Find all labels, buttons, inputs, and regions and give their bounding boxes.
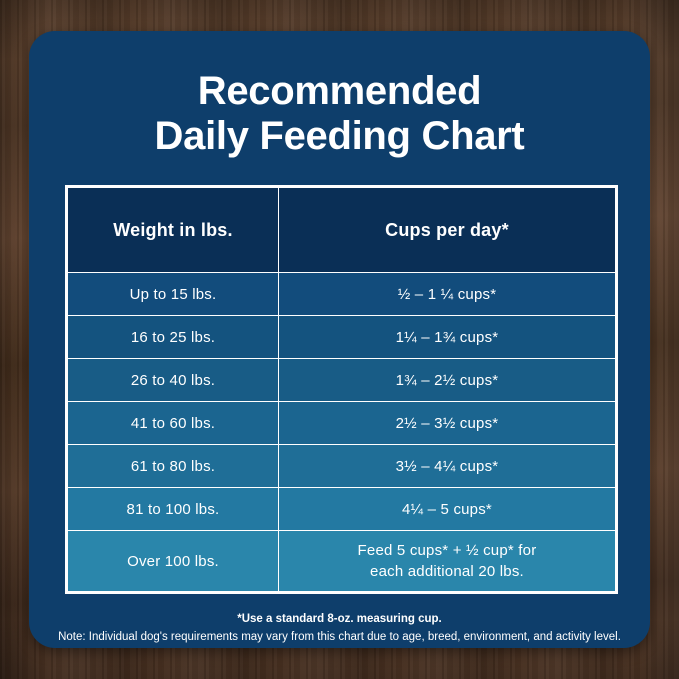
table-header-row: Weight in lbs. Cups per day* [68,188,616,273]
table-row: Over 100 lbs. Feed 5 cups* + ½ cup* for … [68,531,616,592]
cell-weight: Up to 15 lbs. [68,273,279,316]
table-row: 16 to 25 lbs. 1¼ – 1¾ cups* [68,316,616,359]
table-row: 26 to 40 lbs. 1¾ – 2½ cups* [68,359,616,402]
table-body: Up to 15 lbs. ½ – 1 ¼ cups* 16 to 25 lbs… [68,273,616,592]
title-line-2: Daily Feeding Chart [29,114,650,159]
cell-cups: ½ – 1 ¼ cups* [278,273,615,316]
column-header-weight: Weight in lbs. [68,188,279,273]
feeding-table: Weight in lbs. Cups per day* Up to 15 lb… [67,187,616,592]
cell-cups-line-1: Feed 5 cups* + ½ cup* for [280,540,614,562]
cell-cups: 1¼ – 1¾ cups* [278,316,615,359]
table-row: 61 to 80 lbs. 3½ – 4¼ cups* [68,445,616,488]
feeding-chart-card: Recommended Daily Feeding Chart Weight i… [29,31,650,648]
cell-weight: 26 to 40 lbs. [68,359,279,402]
column-header-cups: Cups per day* [278,188,615,273]
page-title: Recommended Daily Feeding Chart [29,31,650,159]
feeding-table-wrapper: Weight in lbs. Cups per day* Up to 15 lb… [65,185,618,594]
footnote-adjust: Adjust food as required to maintain opti… [53,647,626,648]
table-row: 81 to 100 lbs. 4¼ – 5 cups* [68,488,616,531]
footnote-measuring-cup: *Use a standard 8-oz. measuring cup. [53,611,626,629]
cell-cups: 2½ – 3½ cups* [278,402,615,445]
cell-weight: 81 to 100 lbs. [68,488,279,531]
table-head: Weight in lbs. Cups per day* [68,188,616,273]
cell-weight: 61 to 80 lbs. [68,445,279,488]
cell-weight: Over 100 lbs. [68,531,279,592]
cell-cups: Feed 5 cups* + ½ cup* for each additiona… [278,531,615,592]
footnotes: *Use a standard 8-oz. measuring cup. Not… [53,611,626,648]
cell-cups-line-2: each additional 20 lbs. [280,561,614,583]
table-row: Up to 15 lbs. ½ – 1 ¼ cups* [68,273,616,316]
table-row: 41 to 60 lbs. 2½ – 3½ cups* [68,402,616,445]
cell-cups: 1¾ – 2½ cups* [278,359,615,402]
cell-weight: 16 to 25 lbs. [68,316,279,359]
cell-cups: 4¼ – 5 cups* [278,488,615,531]
footnote-note: Note: Individual dog's requirements may … [53,629,626,647]
cell-weight: 41 to 60 lbs. [68,402,279,445]
cell-cups: 3½ – 4¼ cups* [278,445,615,488]
title-line-1: Recommended [198,69,481,113]
